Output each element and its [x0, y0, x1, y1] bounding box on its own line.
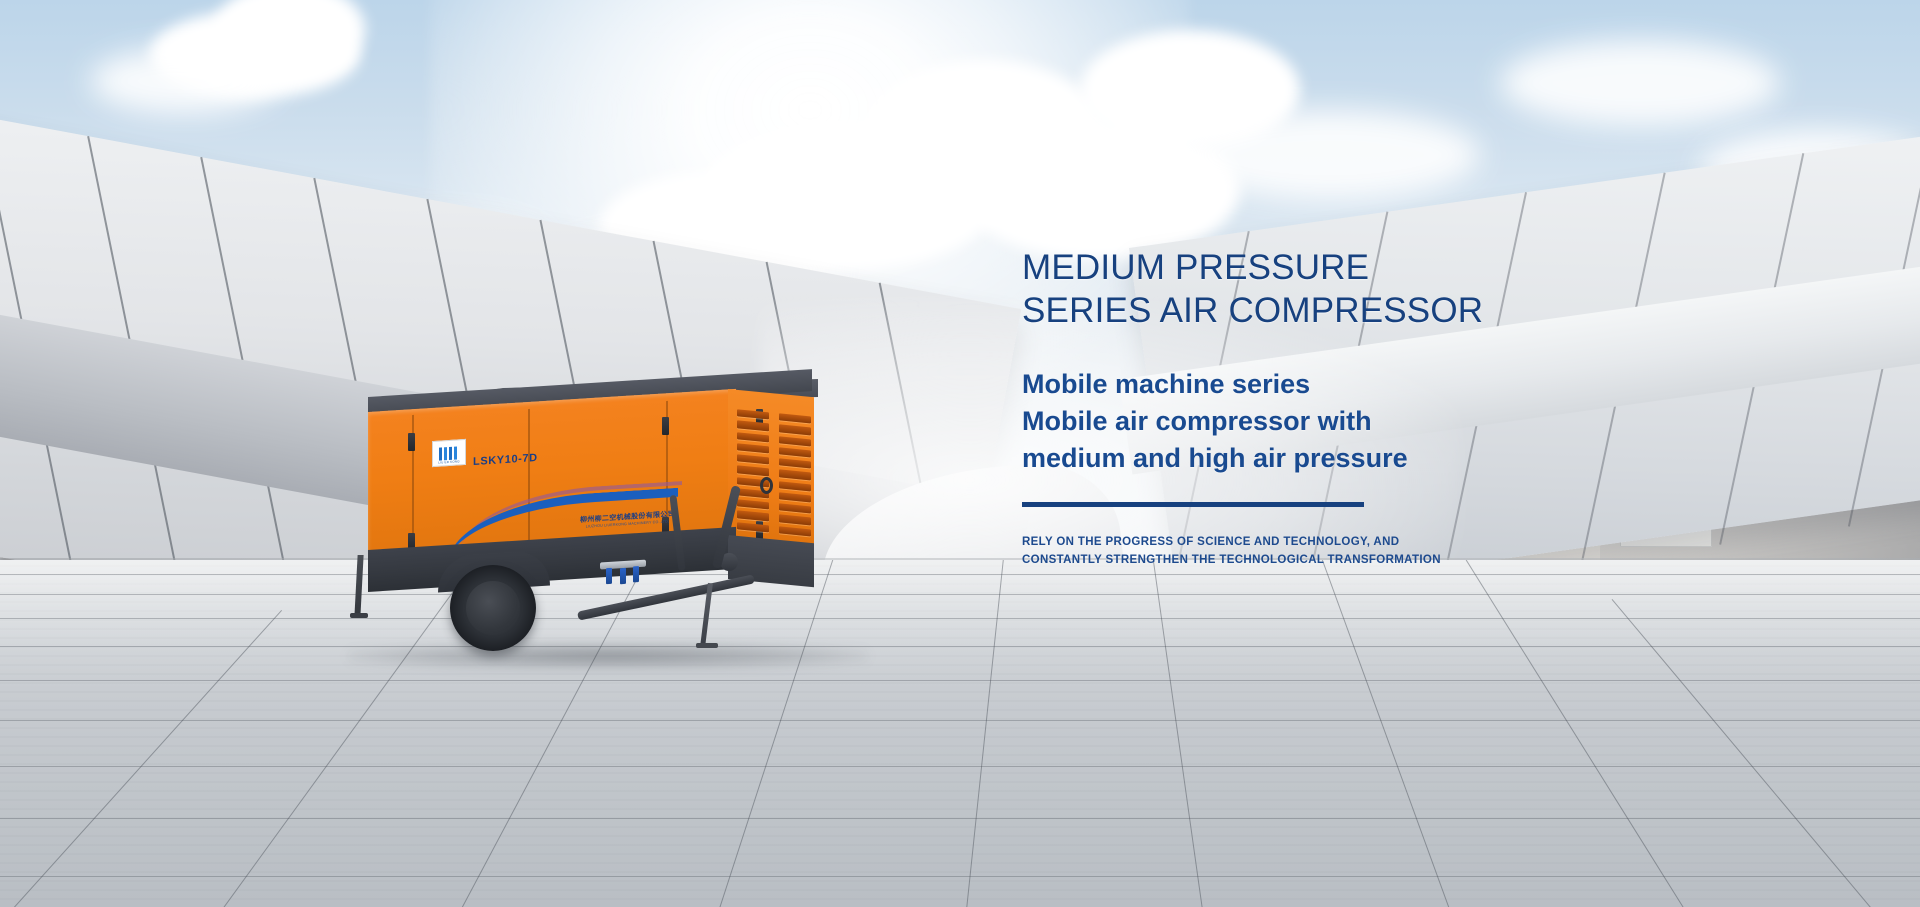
air-compressor-unit: LIU ER KONG LSKY10-7D 柳州柳二空机械股份有限公司 LIUZ… [368, 357, 948, 697]
divider-rule [1022, 502, 1364, 507]
logo-subtext: LIU ER KONG [433, 459, 465, 465]
headline-line-2: SERIES AIR COMPRESSOR [1022, 289, 1642, 332]
outlet-valve-2 [620, 568, 626, 584]
subhead-line-2: Mobile air compressor with [1022, 403, 1642, 440]
page-title: MEDIUM PRESSURE SERIES AIR COMPRESSOR [1022, 246, 1642, 332]
door-hinge-top-left [408, 433, 415, 451]
trailer-wheel [450, 565, 536, 651]
plaza-ground [0, 560, 1920, 907]
valve-outlet-panel [600, 559, 648, 584]
caption-line-1: RELY ON THE PROGRESS OF SCIENCE AND TECH… [1022, 533, 1642, 551]
subhead-line-1: Mobile machine series [1022, 366, 1642, 403]
machine-ground-shadow [348, 643, 868, 669]
subheadline: Mobile machine series Mobile air compres… [1022, 366, 1642, 477]
front-support-foot [350, 613, 368, 618]
subhead-line-3: medium and high air pressure [1022, 440, 1642, 477]
product-hero-banner: LIU ER KONG LSKY10-7D 柳州柳二空机械股份有限公司 LIUZ… [0, 0, 1920, 907]
marketing-copy-block: MEDIUM PRESSURE SERIES AIR COMPRESSOR Mo… [1022, 246, 1642, 569]
caption-line-2: CONSTANTLY STRENGTHEN THE TECHNOLOGICAL … [1022, 551, 1642, 569]
outlet-valve-1 [606, 568, 612, 584]
headline-line-1: MEDIUM PRESSURE [1022, 246, 1642, 289]
brand-logo: LIU ER KONG [432, 439, 466, 467]
cooling-vent-grille [734, 405, 814, 541]
logo-mark-icon [439, 446, 459, 460]
hitch-coupling-icon [760, 477, 773, 494]
vent-column-left [734, 405, 772, 537]
door-hinge-top-right [662, 417, 669, 435]
tagline-caption: RELY ON THE PROGRESS OF SCIENCE AND TECH… [1022, 533, 1642, 569]
outlet-valve-3 [633, 566, 639, 582]
tow-support-foot [696, 643, 718, 648]
vent-column-right [776, 409, 814, 541]
